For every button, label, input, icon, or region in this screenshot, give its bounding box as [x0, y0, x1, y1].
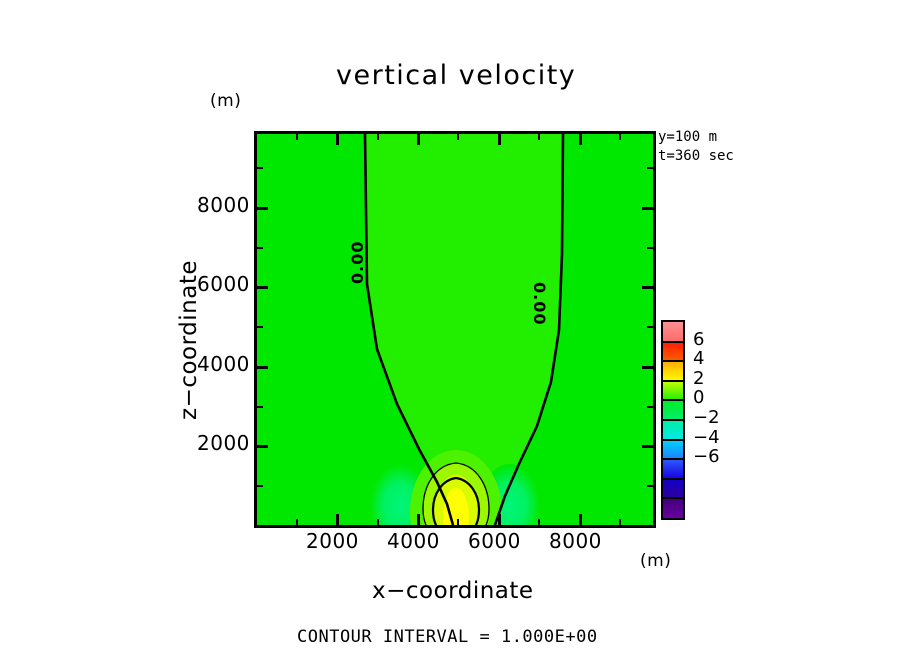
colorbar-band — [663, 498, 683, 518]
x-major-tick — [579, 134, 582, 145]
colorbar-ticklabel: −2 — [693, 409, 720, 427]
x-minor-tick — [538, 134, 540, 140]
colorbar-band-separator — [663, 399, 683, 401]
y-minor-tick — [257, 485, 263, 487]
colorbar-ticklabel: 6 — [693, 331, 704, 349]
chart-title: vertical velocity — [336, 62, 576, 89]
y-major-tick — [257, 286, 268, 289]
figure-root: vertical velocity (m) y=100 m t=360 sec — [0, 0, 904, 654]
x-major-tick — [579, 514, 582, 525]
colorbar-band-separator — [663, 439, 683, 441]
y-ticklabel-2000: 2000 — [197, 433, 250, 453]
y-minor-tick — [257, 167, 263, 169]
colorbar[interactable] — [661, 320, 685, 520]
colorbar-band — [663, 361, 683, 381]
x-minor-tick — [296, 134, 298, 140]
y-minor-tick — [647, 326, 653, 328]
colorbar-band-separator — [663, 478, 683, 480]
colorbar-band — [663, 420, 683, 440]
annotation-time: t=360 sec — [658, 149, 734, 163]
x-minor-tick — [296, 519, 298, 525]
colorbar-band — [663, 381, 683, 401]
colorbar-ticklabel: −4 — [693, 429, 720, 447]
colorbar-band — [663, 440, 683, 460]
y-minor-tick — [647, 167, 653, 169]
colorbar-band-separator — [663, 497, 683, 499]
colorbar-band — [663, 342, 683, 362]
colorbar-band-separator — [663, 458, 683, 460]
colorbar-band-separator — [663, 341, 683, 343]
colorbar-ticklabel: −6 — [693, 448, 720, 466]
x-ticklabel-8000: 8000 — [549, 531, 602, 551]
colorbar-band — [663, 459, 683, 479]
x-minor-tick — [377, 519, 379, 525]
contour-interval-caption: CONTOUR INTERVAL = 1.000E+00 — [297, 629, 598, 646]
y-major-tick — [642, 207, 653, 210]
colorbar-ticklabel: 2 — [693, 370, 704, 388]
y-major-tick — [642, 286, 653, 289]
x-major-tick — [417, 514, 420, 525]
colorbar-band — [663, 322, 683, 342]
contour-label-right: 0.00 — [531, 282, 547, 325]
y-ticklabel-8000: 8000 — [197, 195, 250, 215]
x-minor-tick — [457, 519, 459, 525]
y-major-tick — [642, 366, 653, 369]
x-axis-unit-label: (m) — [640, 553, 671, 570]
x-major-tick — [498, 134, 501, 145]
y-minor-tick — [257, 326, 263, 328]
contour-field — [257, 134, 653, 525]
y-major-tick — [257, 445, 268, 448]
annotation-y-slice: y=100 m — [658, 130, 717, 144]
colorbar-band — [663, 400, 683, 420]
y-minor-tick — [647, 247, 653, 249]
y-ticklabel-6000: 6000 — [197, 274, 250, 294]
colorbar-band — [663, 479, 683, 499]
y-minor-tick — [647, 406, 653, 408]
x-minor-tick — [377, 134, 379, 140]
x-axis-title: x−coordinate — [372, 580, 534, 603]
y-ticklabel-4000: 4000 — [197, 354, 250, 374]
colorbar-ticklabel: 4 — [693, 350, 704, 368]
colorbar-band-separator — [663, 380, 683, 382]
y-minor-tick — [257, 247, 263, 249]
y-minor-tick — [647, 485, 653, 487]
colorbar-ticklabel: 0 — [693, 389, 704, 407]
colorbar-band-separator — [663, 419, 683, 421]
x-minor-tick — [619, 519, 621, 525]
colorbar-band-separator — [663, 360, 683, 362]
contour-label-left: 0.00 — [350, 241, 366, 284]
x-minor-tick — [619, 134, 621, 140]
x-major-tick — [498, 514, 501, 525]
x-major-tick — [417, 134, 420, 145]
y-major-tick — [642, 445, 653, 448]
y-axis-title: z−coordinate — [178, 260, 201, 420]
y-axis-unit-label: (m) — [210, 93, 241, 110]
x-ticklabel-4000: 4000 — [387, 531, 440, 551]
y-major-tick — [257, 207, 268, 210]
x-minor-tick — [457, 134, 459, 140]
x-ticklabel-2000: 2000 — [306, 531, 359, 551]
x-major-tick — [336, 514, 339, 525]
x-minor-tick — [538, 519, 540, 525]
contour-plot-area[interactable]: 0.00 0.00 — [254, 131, 656, 528]
x-ticklabel-6000: 6000 — [468, 531, 521, 551]
y-major-tick — [257, 366, 268, 369]
x-major-tick — [336, 134, 339, 145]
y-minor-tick — [257, 406, 263, 408]
